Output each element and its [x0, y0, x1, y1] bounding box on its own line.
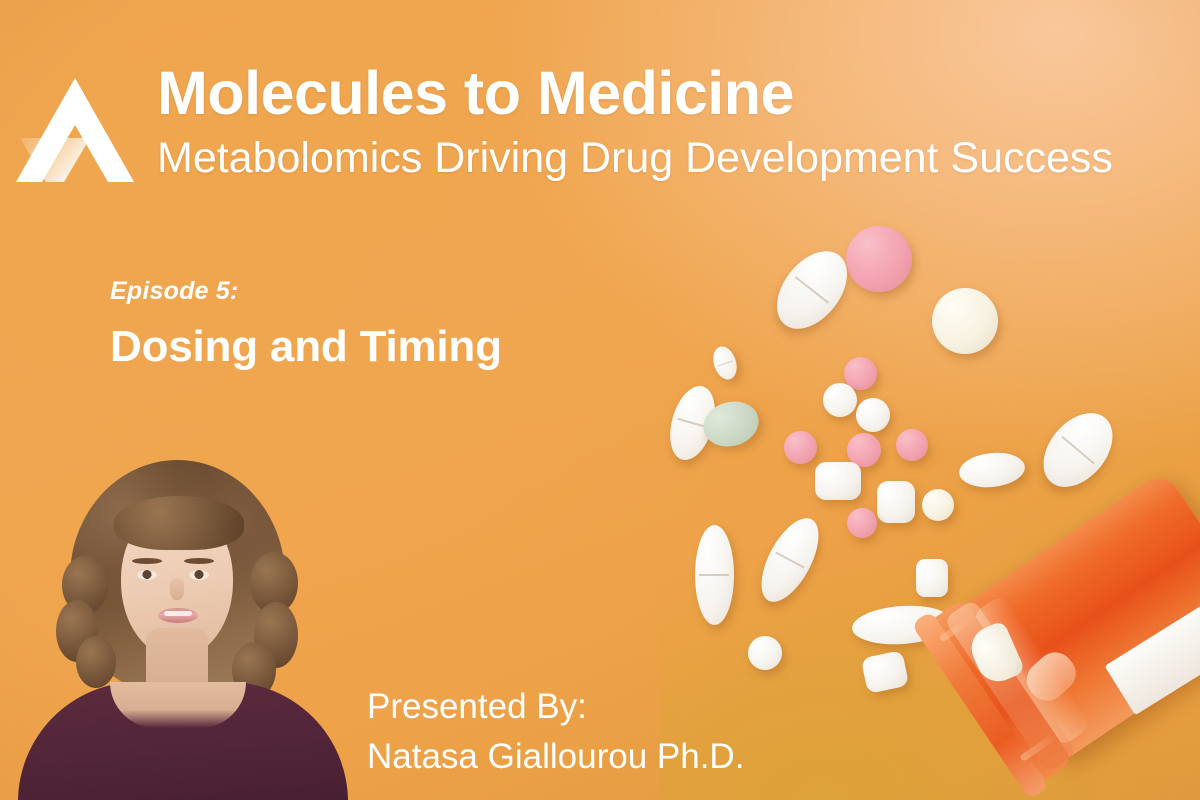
- presentation-slide: Molecules to Medicine Metabolomics Drivi…: [0, 0, 1200, 800]
- pill-round-cream-large: [932, 288, 998, 354]
- pill-score-line: [699, 574, 729, 576]
- nose: [170, 578, 184, 600]
- hair-bangs: [114, 496, 244, 550]
- pill-square-white-mid: [815, 462, 861, 500]
- presenter-portrait: [18, 460, 348, 800]
- pill-round-white-mid1: [823, 383, 857, 417]
- pill-score-line: [776, 552, 805, 568]
- presented-by-label: Presented By:: [367, 687, 587, 727]
- pill-square-white-mid2: [877, 481, 915, 523]
- page-title: Molecules to Medicine: [157, 61, 794, 125]
- eye-left: [137, 570, 157, 580]
- teeth: [164, 611, 192, 616]
- molecules-to-medicine-logo: [12, 62, 160, 184]
- pill-round-white-mid2: [856, 398, 890, 432]
- pill-caplet-white-low: [695, 525, 734, 625]
- chevron-logo-icon: [12, 62, 160, 184]
- presenter-name: Natasa Giallourou Ph.D.: [367, 737, 744, 777]
- page-subtitle: Metabolomics Driving Drug Development Su…: [157, 136, 1113, 181]
- pill-round-pink-mid5: [847, 508, 877, 538]
- pill-score-line: [717, 360, 733, 367]
- pill-score-line: [1061, 436, 1095, 464]
- pill-round-white-low: [748, 636, 782, 670]
- hair-curl: [76, 636, 116, 688]
- eye-right: [189, 570, 209, 580]
- eyebrow-left: [132, 558, 162, 564]
- episode-label: Episode 5:: [110, 277, 238, 306]
- pill-round-pink-large: [846, 226, 912, 292]
- pill-round-cream-mid: [922, 489, 954, 521]
- pill-round-pink-mid2: [784, 431, 817, 464]
- episode-title: Dosing and Timing: [110, 322, 502, 372]
- eyebrow-right: [184, 558, 214, 564]
- pill-score-line: [795, 276, 829, 303]
- pill-round-pink-mid4: [896, 429, 928, 461]
